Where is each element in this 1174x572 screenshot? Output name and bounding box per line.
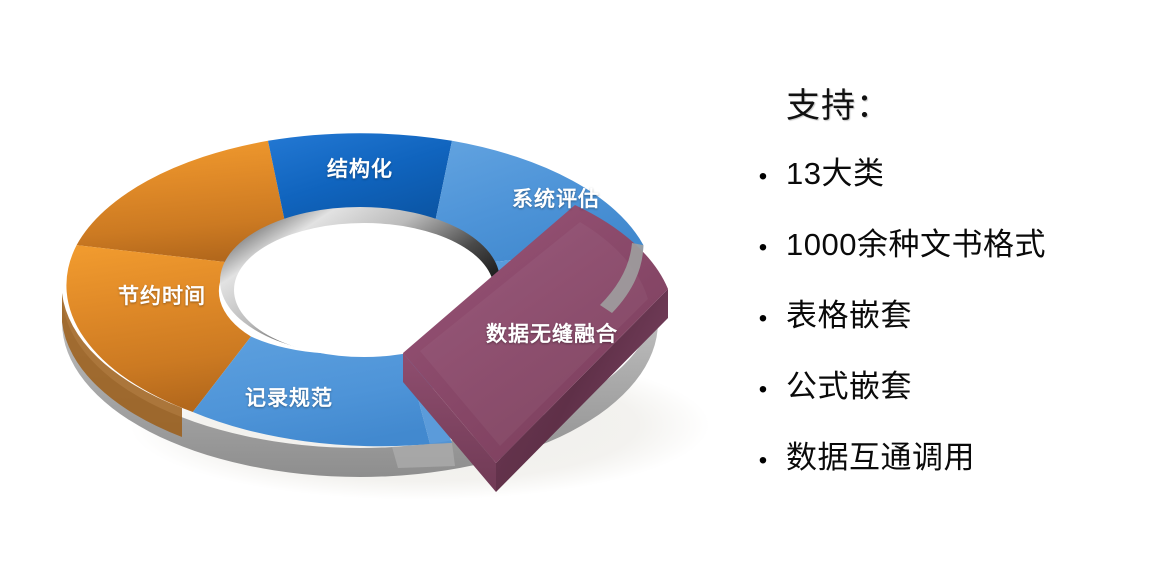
list-item-label: 公式嵌套 <box>786 361 912 406</box>
donut-chart-svg <box>0 0 740 572</box>
list-item: • 表格嵌套 <box>740 290 1174 361</box>
support-bullet-list: • 13大类 • 1000余种文书格式 • 表格嵌套 • 公式嵌套 • 数据互通… <box>740 148 1174 503</box>
list-item: • 13大类 <box>740 148 1174 219</box>
donut-chart-panel: 结构化 系统评估 数据无缝融合 记录规范 节约时间 <box>0 0 740 572</box>
list-item-label: 13大类 <box>786 148 884 193</box>
list-item-label: 1000余种文书格式 <box>786 219 1046 264</box>
list-item: • 数据互通调用 <box>740 432 1174 503</box>
bullet-dot-icon: • <box>740 449 786 473</box>
list-item-label: 表格嵌套 <box>786 290 912 335</box>
list-item: • 1000余种文书格式 <box>740 219 1174 290</box>
list-item-label: 数据互通调用 <box>786 432 975 477</box>
bullet-dot-icon: • <box>740 236 786 260</box>
bullet-dot-icon: • <box>740 165 786 189</box>
bullet-dot-icon: • <box>740 307 786 331</box>
support-text-panel: 支持： • 13大类 • 1000余种文书格式 • 表格嵌套 • 公式嵌套 • … <box>740 0 1174 572</box>
list-item: • 公式嵌套 <box>740 361 1174 432</box>
rim-sliver-bottom-right <box>392 443 455 468</box>
bullet-dot-icon: • <box>740 378 786 402</box>
support-heading: 支持： <box>786 78 891 127</box>
